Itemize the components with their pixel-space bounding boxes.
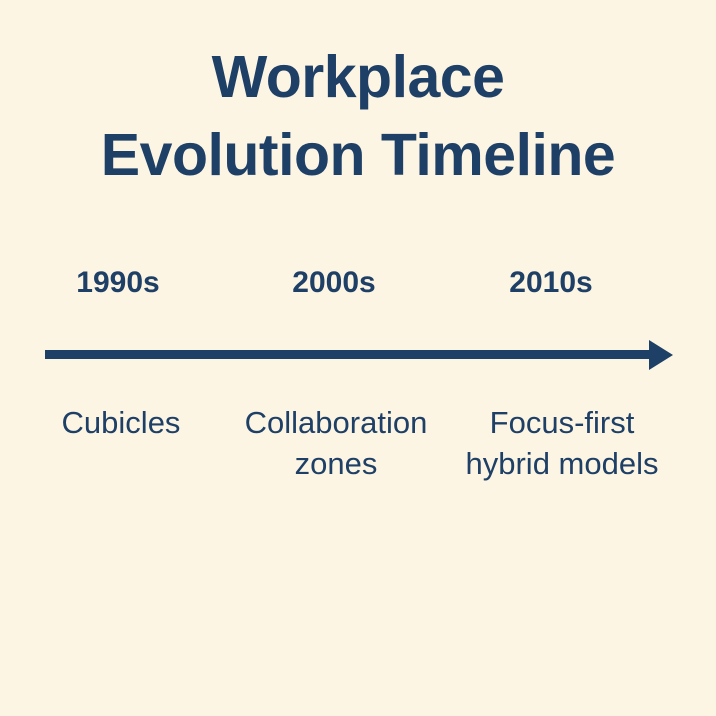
timeline-caption-2010s: Focus-first hybrid models xyxy=(446,402,678,484)
timeline-decade-2000s: 2000s xyxy=(292,264,375,302)
timeline-caption-1990s-line-1: Cubicles xyxy=(21,402,221,443)
timeline-caption-1990s: Cubicles xyxy=(21,402,221,443)
timeline-caption-2000s-line-1: Collaboration xyxy=(225,402,447,443)
arrow-head xyxy=(649,340,673,370)
timeline: 1990s 2000s 2010s Cubicles Collaboration… xyxy=(0,0,716,716)
timeline-infographic: Workplace Evolution Timeline 1990s 2000s… xyxy=(0,0,716,716)
timeline-caption-2000s-line-2: zones xyxy=(225,443,447,484)
timeline-decade-1990s: 1990s xyxy=(76,264,159,302)
timeline-decade-2010s: 2010s xyxy=(509,264,592,302)
right-arrow-icon xyxy=(45,338,675,372)
timeline-caption-2010s-line-1: Focus-first xyxy=(446,402,678,443)
timeline-caption-2010s-line-2: hybrid models xyxy=(446,443,678,484)
timeline-caption-2000s: Collaboration zones xyxy=(225,402,447,484)
arrow-shaft xyxy=(45,350,655,359)
